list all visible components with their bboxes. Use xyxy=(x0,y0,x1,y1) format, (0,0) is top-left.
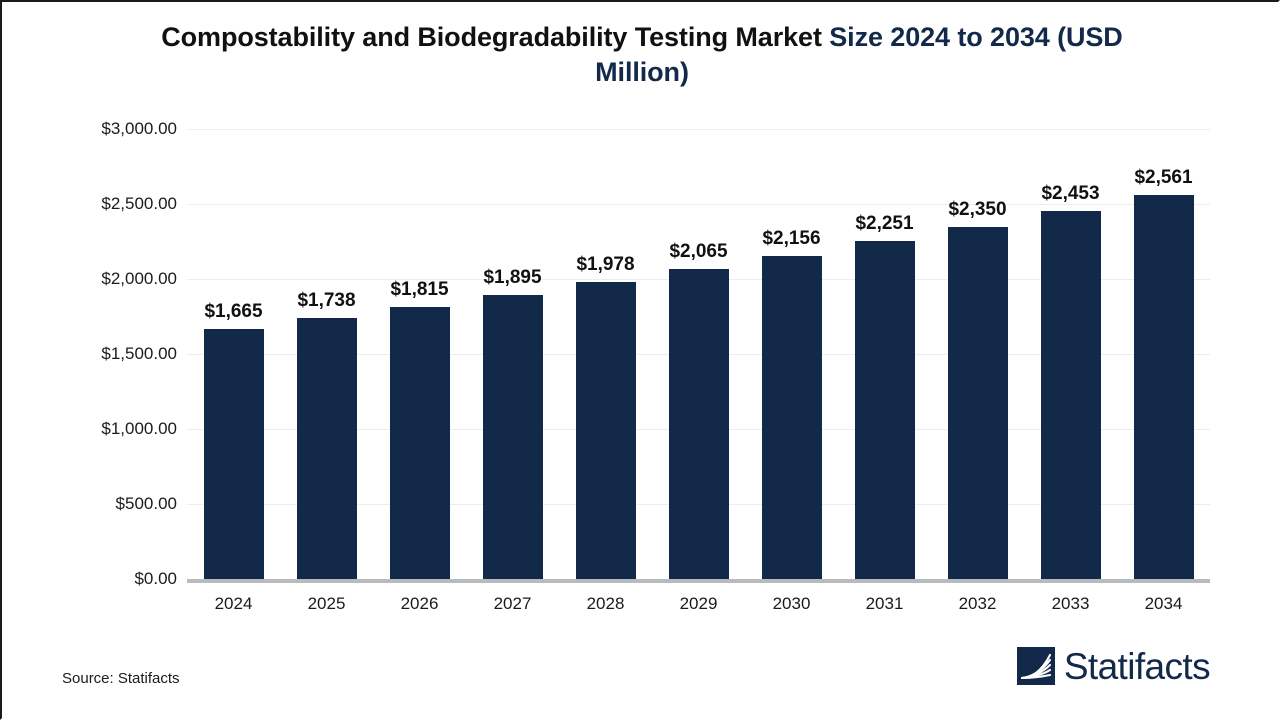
x-axis-tick-label: 2024 xyxy=(215,594,253,614)
bar[interactable] xyxy=(669,269,729,579)
x-axis-tick-label: 2026 xyxy=(401,594,439,614)
bar-group: $2,350 xyxy=(931,112,1024,579)
bar-group: $1,895 xyxy=(466,112,559,579)
bar-series: $1,665$1,738$1,815$1,895$1,978$2,065$2,1… xyxy=(187,112,1210,579)
x-axis-tick-label: 2025 xyxy=(308,594,346,614)
bar[interactable] xyxy=(390,307,450,579)
axis-baseline xyxy=(187,579,1210,583)
bar-value-label: $1,738 xyxy=(297,290,355,312)
bar-group: $1,815 xyxy=(373,112,466,579)
bar[interactable] xyxy=(1041,211,1101,579)
y-axis-tick-label: $1,500.00 xyxy=(27,344,177,364)
title-segment-dark: Compostability and Biodegradability Test… xyxy=(161,22,829,52)
x-axis-tick-label: 2033 xyxy=(1052,594,1090,614)
bar-group: $1,978 xyxy=(559,112,652,579)
bar-group: $2,156 xyxy=(745,112,838,579)
x-axis-tick-label: 2029 xyxy=(680,594,718,614)
x-axis-tick-label: 2031 xyxy=(866,594,904,614)
bar[interactable] xyxy=(204,329,264,579)
bar[interactable] xyxy=(855,241,915,579)
y-axis-tick-label: $3,000.00 xyxy=(27,119,177,139)
bar[interactable] xyxy=(297,318,357,579)
bar-value-label: $1,665 xyxy=(204,301,262,323)
source-note: Source: Statifacts xyxy=(62,670,180,687)
x-axis-tick-label: 2034 xyxy=(1145,594,1183,614)
bar[interactable] xyxy=(1134,195,1194,579)
chart-page: Compostability and Biodegradability Test… xyxy=(0,0,1280,720)
bar-value-label: $1,815 xyxy=(390,279,448,301)
bar-group: $2,453 xyxy=(1024,112,1117,579)
bar-value-label: $2,350 xyxy=(948,199,1006,221)
page-title: Compostability and Biodegradability Test… xyxy=(112,20,1172,90)
y-axis-tick-label: $500.00 xyxy=(27,494,177,514)
bar-value-label: $1,895 xyxy=(483,267,541,289)
bar-value-label: $1,978 xyxy=(576,254,634,276)
y-axis-tick-label: $2,000.00 xyxy=(27,269,177,289)
x-axis: 2024202520262027202820292030203120322033… xyxy=(187,594,1210,622)
brand-name: Statifacts xyxy=(1064,648,1210,685)
bar-value-label: $2,251 xyxy=(855,213,913,235)
bar[interactable] xyxy=(762,256,822,579)
bar-group: $2,065 xyxy=(652,112,745,579)
brand-logo: Statifacts xyxy=(1017,647,1210,685)
x-axis-tick-label: 2028 xyxy=(587,594,625,614)
x-axis-tick-label: 2032 xyxy=(959,594,997,614)
y-axis-tick-label: $1,000.00 xyxy=(27,419,177,439)
bar[interactable] xyxy=(576,282,636,579)
bar-group: $1,738 xyxy=(280,112,373,579)
bar-group: $2,561 xyxy=(1117,112,1210,579)
x-axis-tick-label: 2030 xyxy=(773,594,811,614)
bar[interactable] xyxy=(948,227,1008,580)
bar-group: $1,665 xyxy=(187,112,280,579)
y-axis: $0.00$500.00$1,000.00$1,500.00$2,000.00$… xyxy=(22,2,177,720)
bar-value-label: $2,156 xyxy=(762,228,820,250)
statifacts-wave-logo-icon xyxy=(1017,647,1055,685)
x-axis-tick-label: 2027 xyxy=(494,594,532,614)
bar[interactable] xyxy=(483,295,543,579)
y-axis-tick-label: $2,500.00 xyxy=(27,194,177,214)
bar-group: $2,251 xyxy=(838,112,931,579)
y-axis-tick-label: $0.00 xyxy=(27,569,177,589)
bar-value-label: $2,065 xyxy=(669,241,727,263)
bar-value-label: $2,453 xyxy=(1041,183,1099,205)
bar-value-label: $2,561 xyxy=(1134,167,1192,189)
